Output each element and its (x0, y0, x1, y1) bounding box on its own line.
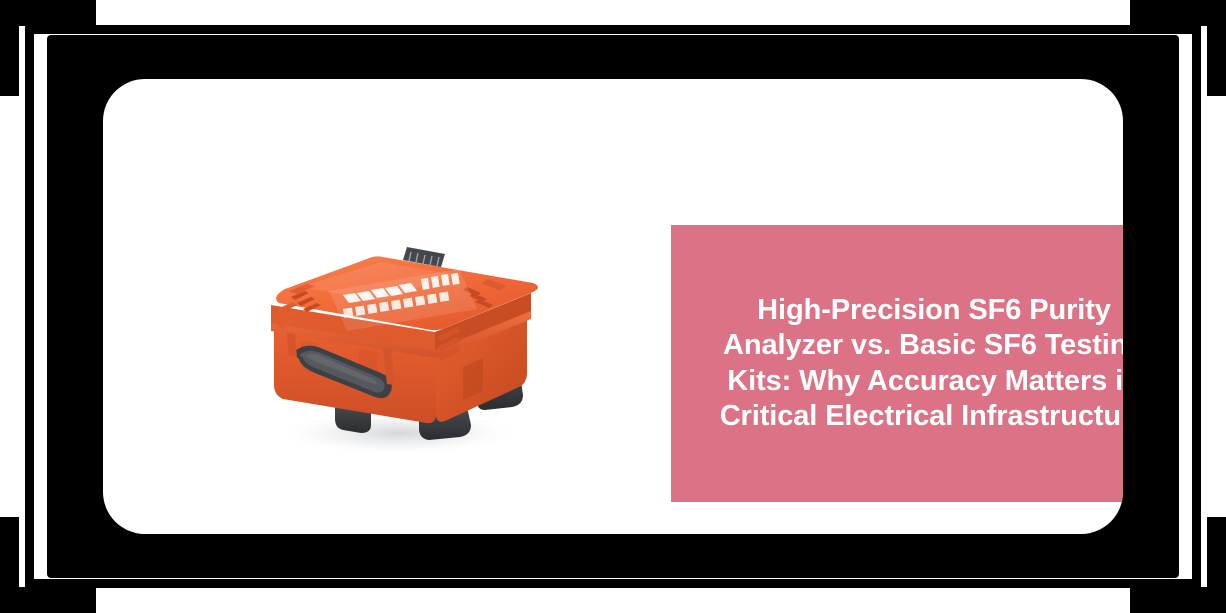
banner-canvas: High-Precision SF6 Purity Analyzer vs. B… (0, 0, 1226, 613)
frame-corner-top-left-vertical (0, 0, 19, 96)
frame-corner-bottom-left-vertical (0, 517, 19, 613)
title-panel: High-Precision SF6 Purity Analyzer vs. B… (671, 225, 1123, 502)
product-image (231, 217, 551, 467)
page-title: High-Precision SF6 Purity Analyzer vs. B… (697, 293, 1123, 435)
content-card: High-Precision SF6 Purity Analyzer vs. B… (103, 79, 1123, 534)
frame-corner-bottom-right-vertical (1207, 517, 1226, 613)
frame-corner-top-right-vertical (1207, 0, 1226, 96)
frame-inner-border: High-Precision SF6 Purity Analyzer vs. B… (47, 35, 1179, 578)
